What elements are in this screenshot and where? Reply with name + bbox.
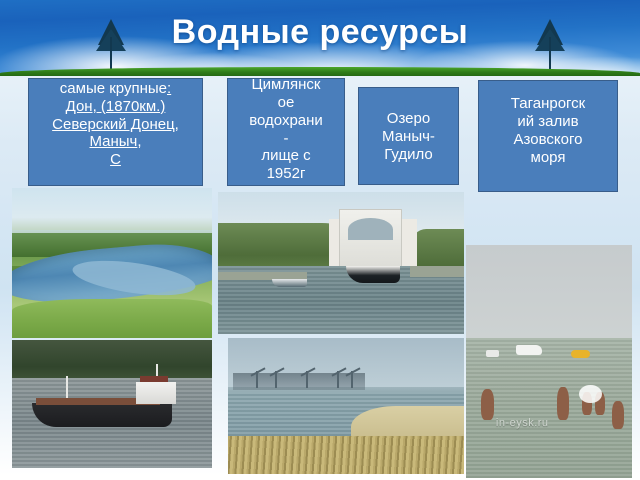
river-meander-landscape-photo bbox=[12, 188, 212, 338]
caption-line: ое bbox=[228, 94, 344, 112]
caption-line: - bbox=[228, 130, 344, 148]
caption-box-lake: Озеро Маныч- Гудило bbox=[358, 87, 459, 185]
beach-with-port-cranes-photo bbox=[228, 338, 464, 474]
caption-box-rivers: Всего 150 рек самые крупные: Дон, (1870к… bbox=[28, 78, 203, 186]
caption-box-reservoir: Цимлянск ое водохрани - лище с 1952г bbox=[227, 78, 345, 186]
caption-line: Дон, (1870км.) bbox=[29, 98, 202, 116]
caption-line: ий залив bbox=[479, 113, 617, 131]
slide: Водные ресурсы Всего 150 рек самые крупн… bbox=[0, 0, 640, 480]
grass-strip bbox=[0, 67, 640, 76]
caption-line: С bbox=[29, 151, 202, 169]
caption-line: Озеро bbox=[359, 110, 458, 128]
photo-watermark: in-eysk.ru bbox=[496, 417, 549, 429]
caption-line: моря bbox=[479, 149, 617, 167]
caption-line: Маныч, bbox=[29, 133, 202, 151]
caption-line: водохрани bbox=[228, 112, 344, 130]
caption-box-gulf: Таганрогск ий залив Азовского моря bbox=[478, 80, 618, 192]
caption-line: Азовского bbox=[479, 131, 617, 149]
caption-line: самые крупные: bbox=[29, 80, 202, 98]
slide-header-banner: Водные ресурсы bbox=[0, 0, 640, 76]
caption-line: Таганрогск bbox=[479, 95, 617, 113]
caption-line: 1952г bbox=[228, 165, 344, 183]
river-lock-sluice-gate-photo bbox=[218, 192, 464, 334]
page-title: Водные ресурсы bbox=[0, 13, 640, 52]
caption-line: Маныч- bbox=[359, 128, 458, 146]
cargo-ship-on-river-photo bbox=[12, 340, 212, 468]
caption-line: лище с bbox=[228, 147, 344, 165]
sea-bathing-people-photo: in-eysk.ru bbox=[466, 245, 632, 478]
caption-line: Северский Донец, bbox=[29, 116, 202, 134]
caption-line: Цимлянск bbox=[228, 78, 344, 94]
caption-line: Гудило bbox=[359, 146, 458, 164]
